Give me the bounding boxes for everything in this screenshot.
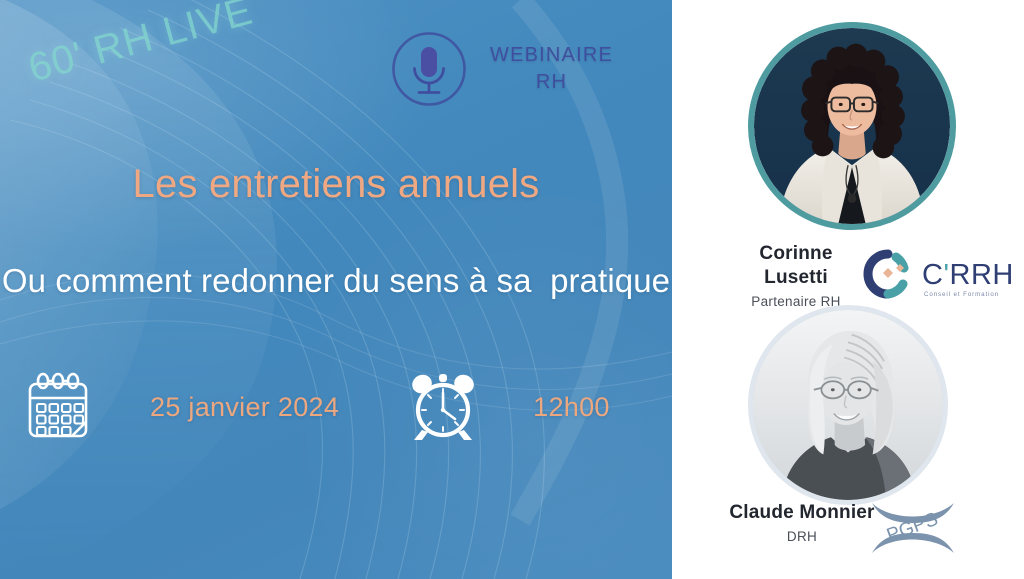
calendar-icon bbox=[22, 368, 94, 446]
webinar-label: WEBINAIRE RH bbox=[490, 42, 613, 96]
webinar-badge: WEBINAIRE RH bbox=[390, 30, 613, 108]
event-date-label: 25 janvier 2024 bbox=[150, 392, 339, 423]
avatar bbox=[748, 305, 948, 505]
webinar-poster: 60' RH LIVE WEBINAIRE RH Les entretiens … bbox=[0, 0, 1024, 579]
webinar-label-line2: RH bbox=[490, 69, 613, 96]
crrh-logo-mark: C'RRH Conseil et Formation bbox=[848, 244, 1018, 306]
page-subtitle: Ou comment redonner du sens à sa pratiqu… bbox=[0, 262, 672, 300]
microphone-icon bbox=[390, 30, 468, 108]
left-blue-panel: 60' RH LIVE WEBINAIRE RH Les entretiens … bbox=[0, 0, 672, 579]
crrh-tagline: Conseil et Formation bbox=[924, 291, 999, 298]
event-time: 12h00 bbox=[405, 368, 610, 446]
alarm-clock-icon bbox=[405, 368, 481, 446]
crrh-logo: C'RRH Conseil et Formation bbox=[848, 244, 1018, 306]
crrh-wordmark: C'RRH bbox=[922, 259, 1014, 291]
event-date: 25 janvier 2024 bbox=[22, 368, 339, 446]
pgps-logo-mark: PGPS bbox=[860, 495, 966, 561]
pgps-logo: PGPS bbox=[860, 495, 966, 561]
page-title: Les entretiens annuels bbox=[0, 162, 672, 207]
event-time-label: 12h00 bbox=[533, 392, 610, 423]
portrait-claude-monnier bbox=[753, 310, 943, 500]
event-info-row: 25 janvier 2024 bbox=[0, 368, 672, 446]
right-speakers-panel: Corinne Lusetti Partenaire RH bbox=[672, 0, 1024, 579]
avatar bbox=[748, 22, 956, 230]
portrait-corinne-lusetti bbox=[754, 28, 950, 224]
webinar-label-line1: WEBINAIRE bbox=[490, 42, 613, 69]
